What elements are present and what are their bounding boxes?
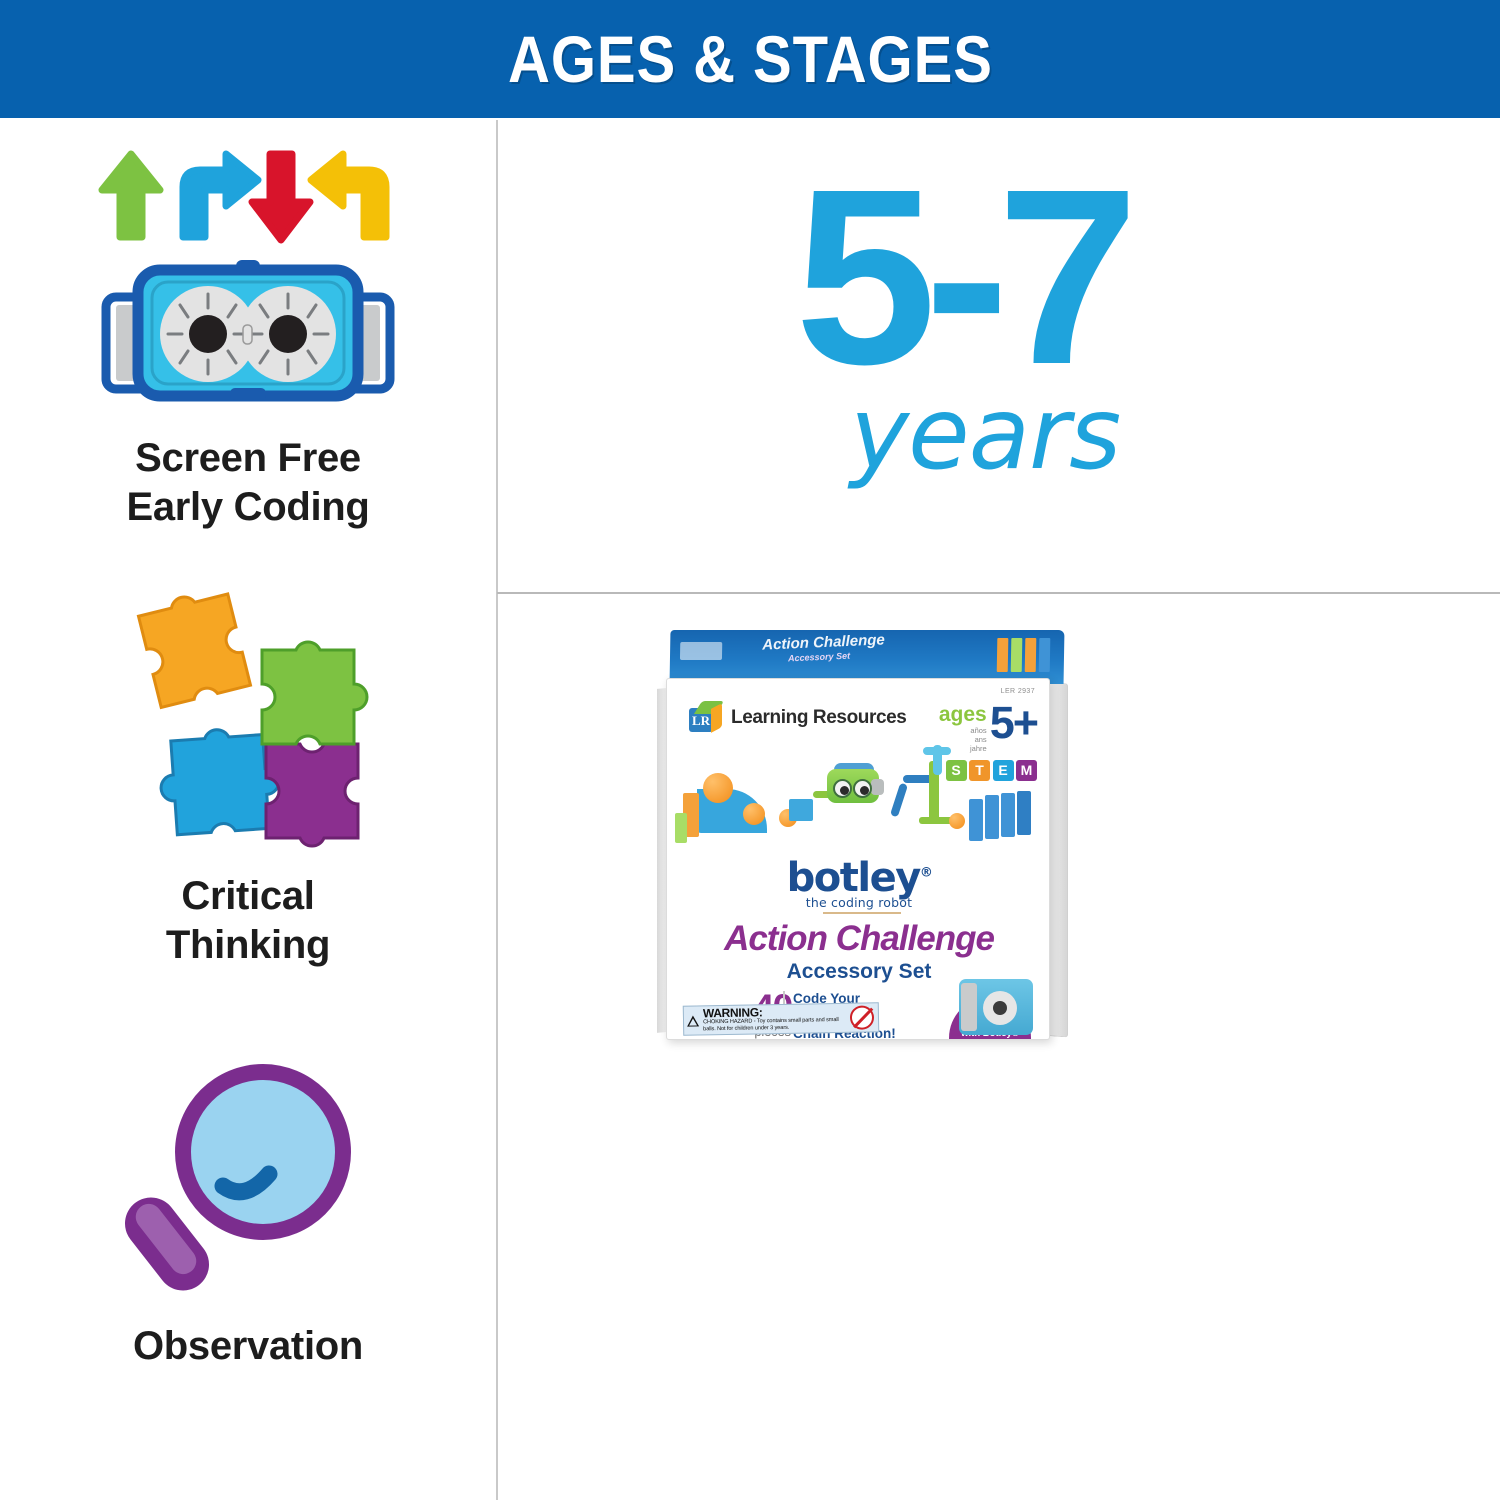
feature-label-observation: Observation (133, 1322, 363, 1371)
box-top-brand-mark (680, 642, 722, 660)
box-scene-ball (949, 813, 965, 829)
puzzle-piece-green (262, 642, 367, 744)
horizontal-divider (497, 592, 1500, 594)
infographic-page: AGES & STAGES (0, 0, 1500, 1500)
age-panel: 5-7 years (498, 122, 1500, 592)
box-scene-domino (985, 795, 999, 839)
box-front-face: LER 2937 LR Learning Resources ages años… (666, 678, 1050, 1040)
box-right-side (1047, 682, 1068, 1037)
box-scene-domino (969, 799, 983, 841)
magnifying-glass-icon (123, 1040, 373, 1300)
box-scene-track (890, 783, 908, 818)
box-scene-ball (743, 803, 765, 825)
box-scene-domino (789, 799, 813, 821)
warning-text: CHOKING HAZARD - Toy contains small part… (703, 1017, 850, 1034)
magnifier-lens (191, 1080, 335, 1224)
box-top-subtitle: Accessory Set (788, 651, 850, 664)
learning-resources-cube-icon: LR (689, 701, 723, 735)
piece-translations: piezas • pièces • Teile (739, 1039, 806, 1040)
arrow-up-icon (102, 154, 160, 237)
warning-triangle-icon (687, 1015, 700, 1026)
feature-screen-free-early-coding: Screen Free Early Coding (0, 142, 496, 532)
brand-lockup: LR Learning Resources (689, 701, 906, 735)
brand-name: Learning Resources (731, 708, 906, 728)
robot-icon (106, 260, 390, 400)
botley-robot-with-direction-arrows-icon (98, 142, 398, 412)
puzzle-pieces-icon (108, 590, 388, 850)
product-photo-panel: Action Challenge Accessory Set LER 2937 … (498, 596, 1500, 1500)
warning-label: WARNING: CHOKING HAZARD - Toy contains s… (683, 1002, 879, 1035)
puzzle-piece-orange (137, 590, 251, 707)
no-children-under-3-icon (850, 1005, 874, 1029)
age-range: 5-7 (795, 152, 1127, 402)
box-divider-rule (823, 912, 901, 914)
header-banner: AGES & STAGES (0, 0, 1500, 118)
box-top-domino-chips (997, 638, 1051, 672)
arrow-down-icon (252, 154, 310, 240)
box-scene-domino (1017, 791, 1031, 835)
feature-label-screen-free: Screen Free Early Coding (126, 434, 369, 532)
product-code: LER 2937 (1001, 688, 1035, 695)
box-scene-domino (1001, 793, 1015, 837)
ages-word: ages (939, 705, 987, 725)
feature-critical-thinking: Critical Thinking (0, 590, 496, 970)
features-column: Screen Free Early Coding (0, 120, 496, 1500)
feature-observation: Observation (0, 1040, 496, 1371)
box-scene-hammer-head (923, 747, 951, 755)
box-botley-thumb-panel (961, 983, 977, 1031)
box-line-brand-sub: the coding robot (667, 895, 1050, 910)
box-top-title: Action Challenge (762, 631, 885, 653)
age-unit: years (850, 384, 1120, 484)
arrow-turn-left-icon (311, 154, 386, 237)
puzzle-piece-purple (266, 744, 358, 846)
page-title: AGES & STAGES (508, 21, 993, 97)
box-line-brand-tm: ® (920, 866, 932, 881)
box-scene-art (667, 741, 1050, 863)
box-product-title: Action Challenge (667, 919, 1050, 959)
box-scene-ball (703, 773, 733, 803)
product-box: Action Challenge Accessory Set LER 2937 … (666, 630, 1068, 1042)
arrow-turn-right-icon (183, 154, 258, 237)
box-scene-domino (675, 813, 687, 843)
box-scene-botley (827, 763, 883, 805)
box-botley-thumb-pupil (993, 1001, 1007, 1015)
box-top-flap: Action Challenge Accessory Set (670, 630, 1065, 684)
ages-value: 5+ (990, 705, 1037, 740)
feature-label-critical-thinking: Critical Thinking (166, 872, 330, 970)
brand-mark-text: LR (692, 713, 710, 729)
